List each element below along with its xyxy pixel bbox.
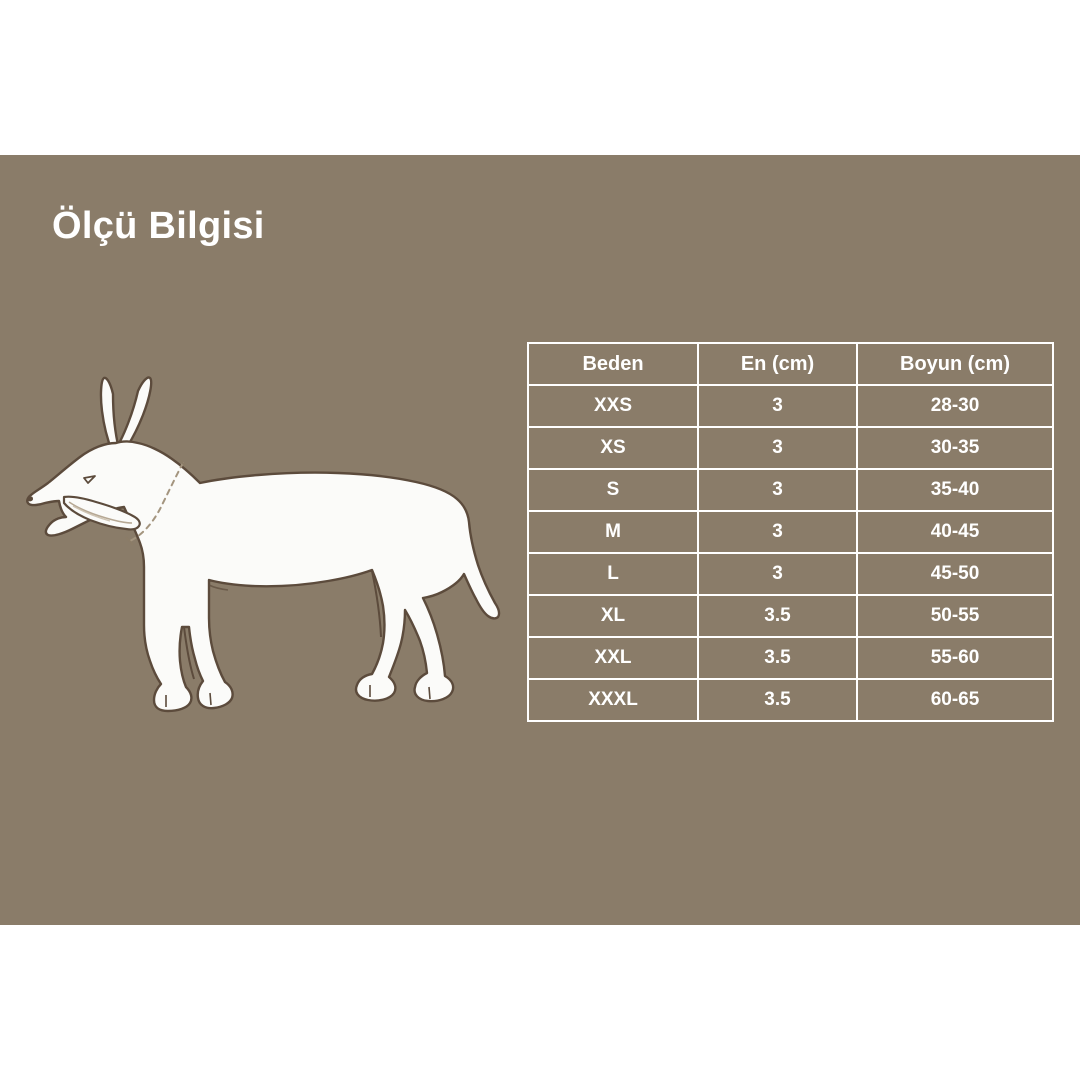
cell-en: 3 — [698, 553, 857, 595]
cell-en: 3 — [698, 511, 857, 553]
cell-boyun: 50-55 — [857, 595, 1053, 637]
size-table: Beden En (cm) Boyun (cm) XXS 3 28-30 XS … — [527, 342, 1054, 722]
cell-boyun: 28-30 — [857, 385, 1053, 427]
page-title: Ölçü Bilgisi — [52, 205, 265, 248]
cell-en: 3.5 — [698, 637, 857, 679]
cell-beden: L — [528, 553, 698, 595]
cell-boyun: 30-35 — [857, 427, 1053, 469]
cell-beden: XXL — [528, 637, 698, 679]
table-row: S 3 35-40 — [528, 469, 1053, 511]
cell-beden: S — [528, 469, 698, 511]
cell-beden: XXS — [528, 385, 698, 427]
cell-boyun: 45-50 — [857, 553, 1053, 595]
table-row: M 3 40-45 — [528, 511, 1053, 553]
column-header-beden: Beden — [528, 343, 698, 385]
table-row: XL 3.5 50-55 — [528, 595, 1053, 637]
table-header-row: Beden En (cm) Boyun (cm) — [528, 343, 1053, 385]
cell-beden: XXXL — [528, 679, 698, 721]
cell-beden: XL — [528, 595, 698, 637]
table-row: XXL 3.5 55-60 — [528, 637, 1053, 679]
cell-en: 3.5 — [698, 595, 857, 637]
cell-beden: XS — [528, 427, 698, 469]
cell-en: 3 — [698, 385, 857, 427]
table-row: XXS 3 28-30 — [528, 385, 1053, 427]
table-row: L 3 45-50 — [528, 553, 1053, 595]
cell-boyun: 35-40 — [857, 469, 1053, 511]
cell-en: 3 — [698, 427, 857, 469]
cell-beden: M — [528, 511, 698, 553]
cell-en: 3 — [698, 469, 857, 511]
column-header-boyun: Boyun (cm) — [857, 343, 1053, 385]
size-guide-canvas: Ölçü Bilgisi — [0, 0, 1080, 1080]
table-row: XXXL 3.5 60-65 — [528, 679, 1053, 721]
dog-body-shape — [27, 378, 499, 711]
cell-boyun: 40-45 — [857, 511, 1053, 553]
cell-en: 3.5 — [698, 679, 857, 721]
dog-illustration — [20, 375, 520, 745]
cell-boyun: 60-65 — [857, 679, 1053, 721]
column-header-en: En (cm) — [698, 343, 857, 385]
table-row: XS 3 30-35 — [528, 427, 1053, 469]
cell-boyun: 55-60 — [857, 637, 1053, 679]
